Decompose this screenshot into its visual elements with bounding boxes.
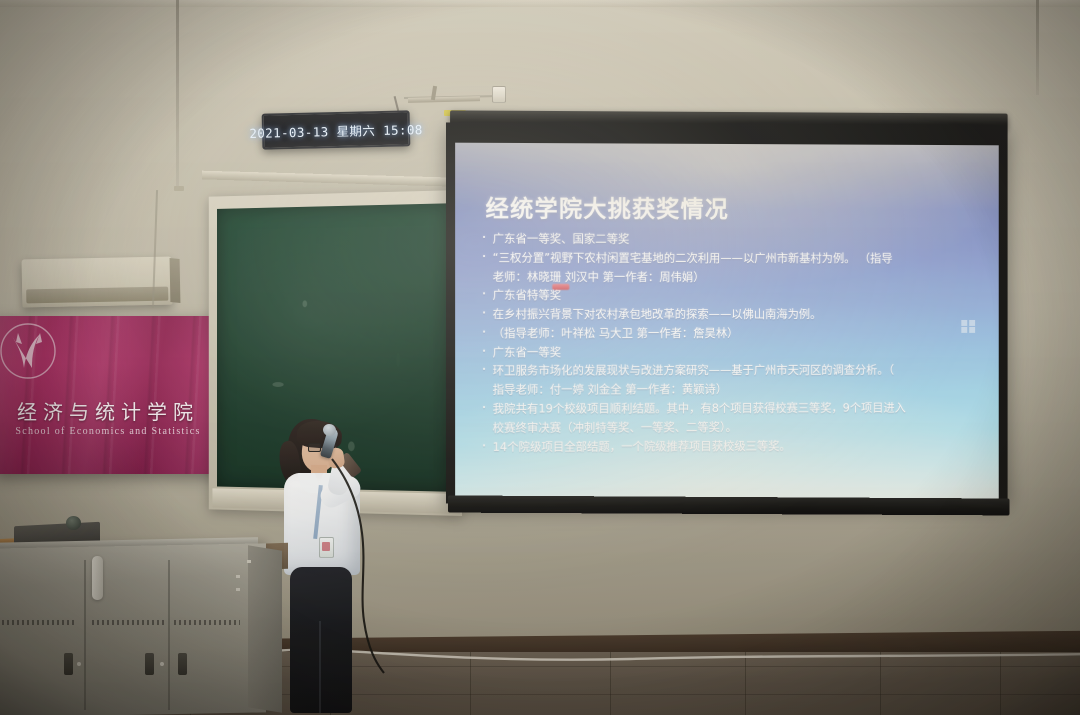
ceiling-edge	[0, 0, 1080, 7]
clock-display-text: 2021-03-13 星期六 15:08	[249, 119, 423, 142]
status-led	[236, 588, 240, 591]
equipment-knob[interactable]	[66, 516, 81, 530]
status-led	[247, 560, 251, 563]
slide-bullet: 校赛终审决赛（冲刺特等奖、一等奖、二等奖）。	[479, 419, 984, 436]
cabinet-seam	[168, 560, 170, 710]
slide-bullet: 广东省特等奖	[479, 288, 984, 304]
status-led	[236, 575, 240, 578]
slide-bullet: 我院共有19个校级项目顺利结题。其中，有8个项目获得校赛三等奖，9个项目进入	[479, 400, 984, 417]
projection-screen: 经统学院大挑获奖情况 广东省一等奖、国家二等奖 “三权分置”视野下农村闲置宅基地…	[446, 110, 1012, 523]
trouser-seam	[319, 621, 321, 713]
student-speaker	[272, 415, 390, 715]
four-square-watermark-icon	[961, 320, 975, 333]
cabinet-handle[interactable]	[92, 556, 103, 600]
wall-hook	[174, 186, 184, 191]
cabinet-vent	[174, 620, 240, 625]
university-emblem-icon	[0, 320, 60, 382]
wall-seam	[176, 0, 179, 190]
presentation-slide: 经统学院大挑获奖情况 广东省一等奖、国家二等奖 “三权分置”视野下农村闲置宅基地…	[455, 143, 999, 508]
cabinet-keyhole[interactable]	[160, 662, 164, 666]
screen-border: 经统学院大挑获奖情况 广东省一等奖、国家二等奖 “三权分置”视野下农村闲置宅基地…	[446, 122, 1008, 503]
slide-bullet-list: 广东省一等奖、国家二等奖 “三权分置”视野下农村闲置宅基地的二次利用——以广州市…	[479, 231, 984, 458]
lectern-side-panel	[248, 545, 282, 712]
cabinet-seam	[84, 560, 86, 710]
slide-bullet: 14个院级项目全部结题，一个院级推荐项目获校级三等奖。	[479, 438, 984, 455]
slide-bullet: 广东省一等奖、国家二等奖	[479, 231, 984, 248]
slide-bullet: 环卫服务市场化的发展现状与改进方案研究——基于广州市天河区的调查分析。（	[479, 363, 984, 379]
multimedia-lectern-cabinet	[0, 543, 266, 715]
wall-switch-plate[interactable]	[492, 86, 506, 103]
air-conditioner	[22, 257, 173, 308]
cabinet-vent	[92, 620, 164, 625]
badge-mark	[322, 542, 330, 551]
laser-pointer-mark	[552, 284, 569, 290]
banner-chinese-text: 经济与统计学院	[0, 396, 222, 425]
slide-bullet: 广东省一等奖	[479, 344, 984, 360]
classroom-photo-scene: 经济与统计学院 School of Economics and Statisti…	[0, 0, 1080, 715]
led-wall-clock: 2021-03-13 星期六 15:08	[262, 110, 411, 149]
slide-bullet: （指导老师：叶祥松 马大卫 第一作者：詹昊林）	[479, 326, 984, 342]
wall-seam	[1036, 0, 1039, 95]
banner-english-text: School of Economics and Statistics	[0, 426, 222, 437]
cabinet-keyhole[interactable]	[77, 662, 81, 666]
screen-weight-bar	[448, 495, 1010, 515]
slide-bullet: 在乡村振兴背景下对农村承包地改革的探索——以佛山南海为例。	[479, 307, 984, 323]
slide-bullet: “三权分置”视野下农村闲置宅基地的二次利用——以广州市新基村为例。 （指导	[479, 250, 984, 266]
cabinet-vent	[0, 620, 74, 625]
cabinet-door-lock[interactable]	[145, 653, 154, 675]
slide-title: 经统学院大挑获奖情况	[486, 189, 729, 224]
cabinet-door-lock[interactable]	[64, 653, 73, 675]
black-trousers	[290, 567, 352, 713]
department-banner: 经济与统计学院 School of Economics and Statisti…	[0, 316, 222, 474]
slide-bullet: 指导老师：付一婷 刘金全 第一作者：黄颖诗）	[479, 382, 984, 399]
cabinet-door-lock[interactable]	[178, 653, 187, 675]
